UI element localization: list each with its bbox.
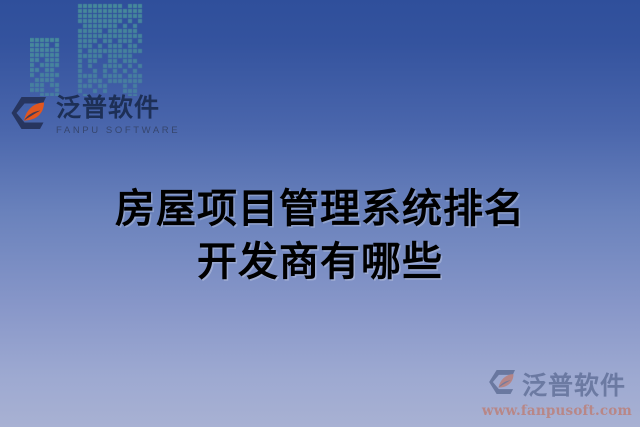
fanpu-hexagon-arc-icon [10,93,50,138]
brand-name-cn: 泛普软件 [56,95,180,121]
pixel-buildings-icon [30,0,170,96]
page-title: 房屋项目管理系统排名 开发商有哪些 [0,183,640,289]
watermark-logo-row: 泛普软件 [488,366,626,402]
promo-banner: 泛普软件 FANPU SOFTWARE 房屋项目管理系统排名 开发商有哪些 泛普… [0,0,640,427]
brand-name-en: FANPU SOFTWARE [56,125,180,136]
fanpu-hexagon-arc-icon [488,367,518,402]
watermark-brand-name: 泛普软件 [522,366,626,402]
brand-logo: 泛普软件 FANPU SOFTWARE [10,93,180,138]
brand-wordmark: 泛普软件 FANPU SOFTWARE [56,95,180,135]
page-title-line-2: 开发商有哪些 [0,236,640,289]
page-title-line-1: 房屋项目管理系统排名 [0,183,640,236]
watermark-url: www.fanpusoft.com [482,403,632,419]
watermark: 泛普软件 www.fanpusoft.com [482,366,632,419]
